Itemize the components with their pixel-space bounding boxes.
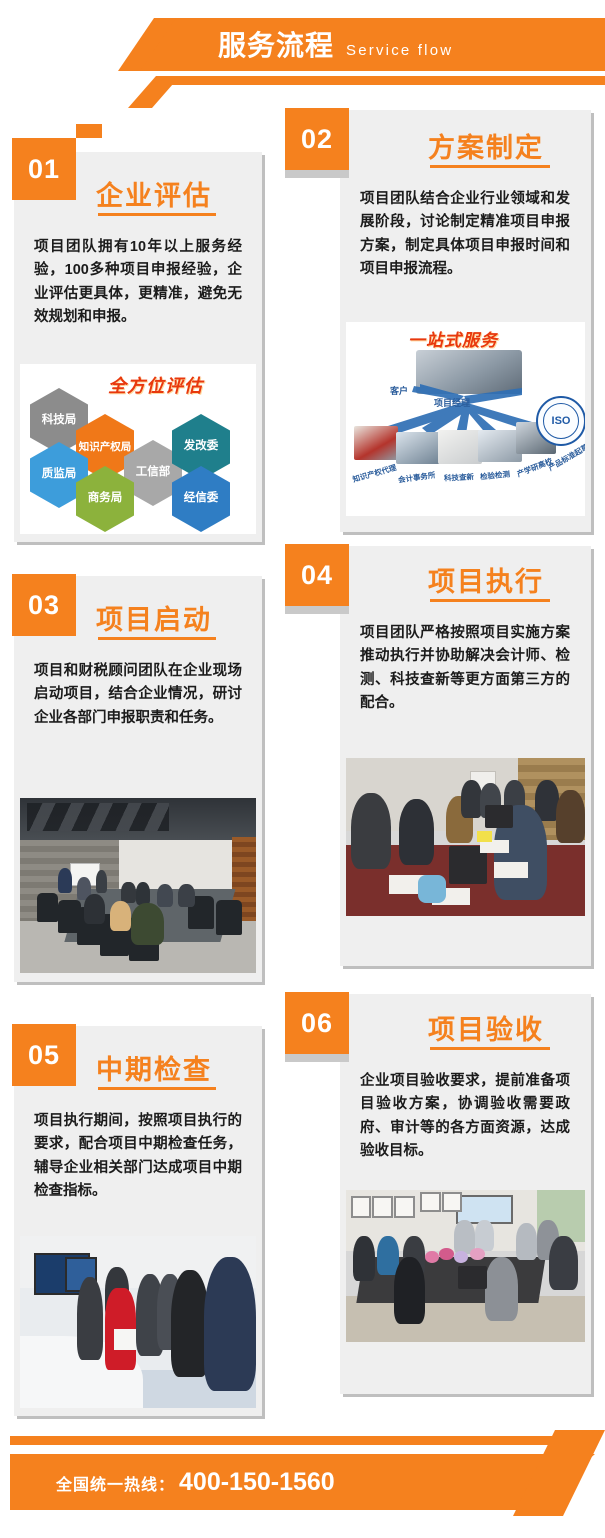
hotline-label: 全国统一热线： <box>56 1471 175 1495</box>
step-number-02: 02 <box>285 108 349 170</box>
step-body-05: 项目执行期间，按照项目执行的要求，配合项目中期检查任务，辅导企业相关部门达成项目… <box>34 1110 242 1204</box>
photo-site-visit <box>20 1236 256 1408</box>
photo-meeting-room <box>20 798 256 973</box>
page-title: 服务流程 <box>218 26 334 66</box>
step-title-02: 方案制定 <box>428 126 544 165</box>
step-card-05[interactable]: 05 中期检查 项目执行期间，按照项目执行的要求，配合项目中期检查任务，辅导企业… <box>14 1026 262 1416</box>
step-card-03[interactable]: 03 项目启动 项目和财税顾问团队在企业现场启动项目，结合企业情况，研讨企业各部… <box>14 576 262 982</box>
step-title-01: 企业评估 <box>96 174 212 213</box>
title-rule-04 <box>430 599 550 602</box>
step-title-05: 中期检查 <box>96 1048 212 1087</box>
step-number-03: 03 <box>12 574 76 636</box>
step-number-01: 01 <box>12 138 76 200</box>
one-stop-thumb-2 <box>396 432 440 464</box>
header-underline-bar <box>150 76 605 85</box>
photo-team-working <box>346 758 585 916</box>
page-subtitle: Service flow <box>346 31 453 71</box>
one-stop-thumb-1 <box>354 426 398 460</box>
step-number-04: 04 <box>285 544 349 606</box>
one-stop-label-customer: 客户 <box>390 384 408 397</box>
step-body-02: 项目团队结合企业行业领域和发展阶段，讨论制定精准项目申报方案，制定具体项目申报时… <box>360 188 570 282</box>
footer-top-line <box>10 1436 595 1445</box>
service-flow-infographic: 服务流程 Service flow 01 企业评估 项目团队拥有10年以上服务经… <box>0 0 605 1538</box>
step-title-04: 项目执行 <box>428 560 544 599</box>
badge-tail-02 <box>285 170 349 178</box>
header-title-group: 服务流程 Service flow <box>218 26 453 66</box>
step-number-06: 06 <box>285 992 349 1054</box>
step-body-04: 项目团队严格按照项目实施方案推动执行并协助解决会计师、检测、科技查新等更方面第三… <box>360 622 570 716</box>
page-footer: 全国统一热线： 400-150-1560 <box>0 1422 605 1538</box>
one-stop-label-manager: 项目经理 <box>434 396 470 409</box>
one-stop-thumb-3 <box>438 430 482 464</box>
step-number-05: 05 <box>12 1024 76 1086</box>
badge-tail-04 <box>285 606 349 614</box>
badge-tail-01 <box>76 124 102 138</box>
title-rule-03 <box>98 637 216 640</box>
step-title-03: 项目启动 <box>96 598 212 637</box>
title-rule-05 <box>98 1087 216 1090</box>
step-title-06: 项目验收 <box>428 1008 544 1047</box>
step-card-06[interactable]: 06 项目验收 企业项目验收要求，提前准备项目验收方案，协调验收需要政府、审计等… <box>340 994 591 1394</box>
hotline-number[interactable]: 400-150-1560 <box>179 1468 335 1497</box>
hotline-group: 全国统一热线： 400-150-1560 <box>56 1468 335 1497</box>
title-rule-06 <box>430 1047 550 1050</box>
title-rule-02 <box>430 165 550 168</box>
step-body-06: 企业项目验收要求，提前准备项目验收方案，协调验收需要政府、审计等的各方面资源，达… <box>360 1070 570 1164</box>
page-header: 服务流程 Service flow <box>0 0 605 108</box>
step-body-03: 项目和财税顾问团队在企业现场启动项目，结合企业情况，研讨企业各部门申报职责和任务… <box>34 660 242 730</box>
step-card-04[interactable]: 04 项目执行 项目团队严格按照项目实施方案推动执行并协助解决会计师、检测、科技… <box>340 546 591 966</box>
badge-tail-06 <box>285 1054 349 1062</box>
step-body-01: 项目团队拥有10年以上服务经验，100多种项目申报经验，企业评估更具体，更精准，… <box>34 236 242 330</box>
one-stop-service-illustration: 一站式服务 客户 项目经理 <box>346 322 585 516</box>
photo-acceptance-conference <box>346 1190 585 1342</box>
iso-seal-icon: ISO <box>536 396 585 446</box>
step-card-01[interactable]: 01 企业评估 项目团队拥有10年以上服务经验，100多种项目申报经验，企业评估… <box>14 152 262 542</box>
one-stop-branch-3: 科技查新 <box>444 471 475 484</box>
hex-wheel-illustration: 全方位评估 科技局 知识产权局 质监局 工信部 商务局 发改委 经信委 <box>20 364 256 534</box>
step-card-02[interactable]: 02 方案制定 项目团队结合企业行业领域和发展阶段，讨论制定精准项目申报方案，制… <box>340 110 591 532</box>
title-rule-01 <box>98 213 216 216</box>
hex-wheel-title: 全方位评估 <box>108 372 203 398</box>
